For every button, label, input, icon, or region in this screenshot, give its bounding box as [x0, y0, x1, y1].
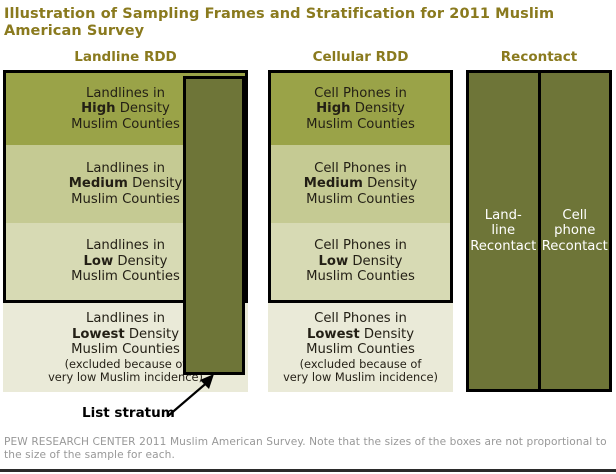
stratum-density-label: High: [81, 101, 115, 116]
stratum-line-2: High Density: [81, 101, 170, 117]
stratum-density-label: Low: [84, 254, 114, 269]
stratum-density-suffix: Density: [128, 176, 182, 191]
stratum-density-label: Lowest: [307, 327, 360, 342]
stratum-line-3: Muslim Counties: [306, 117, 415, 133]
stratum-line-3: Muslim Counties: [71, 117, 180, 133]
column-header-recontact: Recontact: [466, 49, 612, 65]
stratum-density-label: Medium: [304, 176, 363, 191]
stratum-density-label: Low: [319, 254, 349, 269]
column-header-cellular: Cellular RDD: [268, 49, 453, 65]
recontact-line-1: Cell: [562, 208, 587, 224]
list-stratum-arrow-icon: [150, 368, 250, 423]
stratum-line-2: Lowest Density: [307, 327, 414, 343]
recontact-line-2: line: [491, 223, 515, 239]
stratum-density-suffix: Density: [113, 254, 167, 269]
cellular-low-density-box: Cell Phones in Low Density Muslim Counti…: [271, 223, 450, 300]
stratum-line-1: Cell Phones in: [314, 238, 407, 254]
stratum-line-2: Low Density: [84, 254, 168, 270]
recontact-frame: Land- line Recontact Cell phone Recontac…: [466, 70, 612, 392]
landline-recontact-box: Land- line Recontact: [469, 73, 541, 389]
recontact-line-3: Recontact: [542, 239, 608, 255]
list-stratum-box: [183, 76, 245, 375]
stratum-line-2: Low Density: [319, 254, 403, 270]
column-header-landline: Landline RDD: [3, 49, 248, 65]
stratum-line-3: Muslim Counties: [71, 192, 180, 208]
footer-source-note: PEW RESEARCH CENTER 2011 Muslim American…: [4, 436, 610, 461]
stratum-line-2: High Density: [316, 101, 405, 117]
stratum-line-1: Cell Phones in: [314, 311, 407, 327]
cell-phone-recontact-box: Cell phone Recontact: [541, 73, 610, 389]
stratum-line-2: Medium Density: [69, 176, 183, 192]
stratum-note-line-1: (excluded because of: [300, 358, 422, 371]
stratum-line-1: Landlines in: [86, 86, 165, 102]
cellular-high-density-box: Cell Phones in High Density Muslim Count…: [271, 73, 450, 145]
stratum-line-1: Landlines in: [86, 161, 165, 177]
stratum-line-1: Landlines in: [86, 311, 165, 327]
cellular-lowest-density-box: Cell Phones in Lowest Density Muslim Cou…: [268, 303, 453, 392]
stratum-line-1: Cell Phones in: [314, 161, 407, 177]
stratum-line-3: Muslim Counties: [71, 269, 180, 285]
stratum-line-3: Muslim Counties: [71, 342, 180, 358]
stratum-density-suffix: Density: [348, 254, 402, 269]
stratum-density-suffix: Density: [351, 101, 405, 116]
stratum-line-1: Cell Phones in: [314, 86, 407, 102]
stratum-density-label: Medium: [69, 176, 128, 191]
stratum-line-3: Muslim Counties: [306, 342, 415, 358]
recontact-line-2: phone: [554, 223, 595, 239]
page-title: Illustration of Sampling Frames and Stra…: [4, 6, 604, 40]
stratum-density-label: High: [316, 101, 350, 116]
cellular-rdd-frame: Cell Phones in High Density Muslim Count…: [268, 70, 453, 303]
stratum-density-suffix: Density: [363, 176, 417, 191]
stratum-line-2: Lowest Density: [72, 327, 179, 343]
recontact-line-1: Land-: [485, 208, 522, 224]
stratum-line-3: Muslim Counties: [306, 192, 415, 208]
stratum-line-2: Medium Density: [304, 176, 418, 192]
stratum-density-label: Lowest: [72, 327, 125, 342]
stratum-line-3: Muslim Counties: [306, 269, 415, 285]
stratum-density-suffix: Density: [360, 327, 414, 342]
stratum-density-suffix: Density: [125, 327, 179, 342]
stratum-density-suffix: Density: [116, 101, 170, 116]
stratum-line-1: Landlines in: [86, 238, 165, 254]
recontact-line-3: Recontact: [470, 239, 536, 255]
footer-divider: [0, 469, 616, 472]
stratum-note-line-2: very low Muslim incidence): [283, 371, 438, 384]
cellular-medium-density-box: Cell Phones in Medium Density Muslim Cou…: [271, 145, 450, 223]
